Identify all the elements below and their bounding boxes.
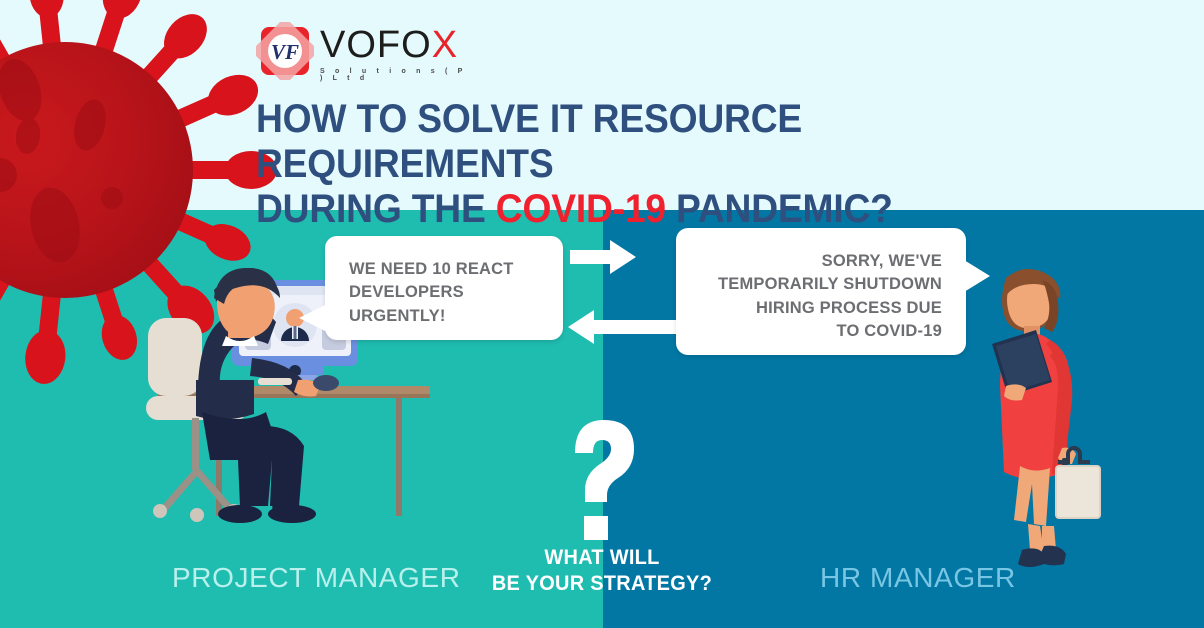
logo-word-main: VOFO xyxy=(320,24,432,66)
project-manager-label: PROJECT MANAGER xyxy=(172,562,461,594)
brand-logo[interactable]: VF VOFOX S o l u t i o n s ( P ) L t d xyxy=(256,20,476,82)
arrow-left-icon xyxy=(568,310,678,349)
strategy-caption: WHAT WILL BE YOUR STRATEGY? xyxy=(460,545,745,596)
infographic-canvas: VF VOFOX S o l u t i o n s ( P ) L t d H… xyxy=(0,0,1204,628)
headline-covid-highlight: COVID-19 xyxy=(496,187,666,231)
right-bubble-line-4: TO COVID-19 xyxy=(700,320,942,343)
left-bubble-line-1: WE NEED 10 REACT xyxy=(349,258,539,281)
strategy-line-2: BE YOUR STRATEGY? xyxy=(460,571,745,597)
bubble-tail-right xyxy=(964,260,990,292)
project-manager-speech-bubble: WE NEED 10 REACT DEVELOPERS URGENTLY! xyxy=(325,236,563,340)
arrow-right-icon xyxy=(570,240,636,279)
standing-woman-graphic xyxy=(992,269,1100,567)
headline-line2-after: PANDEMIC? xyxy=(666,187,893,231)
headline-line-2: DURING THE COVID-19 PANDEMIC? xyxy=(256,187,1093,232)
left-bubble-line-3: URGENTLY! xyxy=(349,305,539,328)
hr-manager-speech-bubble: SORRY, WE'VE TEMPORARILY SHUTDOWN HIRING… xyxy=(676,228,966,355)
strategy-line-1: WHAT WILL xyxy=(460,545,745,571)
right-bubble-line-1: SORRY, WE'VE xyxy=(700,250,942,273)
logo-tagline: S o l u t i o n s ( P ) L t d xyxy=(320,68,476,82)
logo-monogram-text: VF xyxy=(271,40,299,64)
logo-word-accent: X xyxy=(432,24,458,66)
right-bubble-line-3: HIRING PROCESS DUE xyxy=(700,297,942,320)
right-bubble-line-2: TEMPORARILY SHUTDOWN xyxy=(700,273,942,296)
logo-wordmark: VOFOX S o l u t i o n s ( P ) L t d xyxy=(320,26,476,82)
hr-manager-illustration xyxy=(962,262,1122,574)
left-bubble-line-2: DEVELOPERS xyxy=(349,281,539,304)
page-title: HOW TO SOLVE IT RESOURCE REQUIREMENTS DU… xyxy=(256,97,1093,233)
bubble-tail-left xyxy=(299,304,327,332)
headline-line2-before: DURING THE xyxy=(256,187,496,231)
headline-line-1: HOW TO SOLVE IT RESOURCE REQUIREMENTS xyxy=(256,97,1093,187)
vofox-octagon-logo: VF xyxy=(256,22,314,80)
hr-manager-label: HR MANAGER xyxy=(820,562,1016,594)
